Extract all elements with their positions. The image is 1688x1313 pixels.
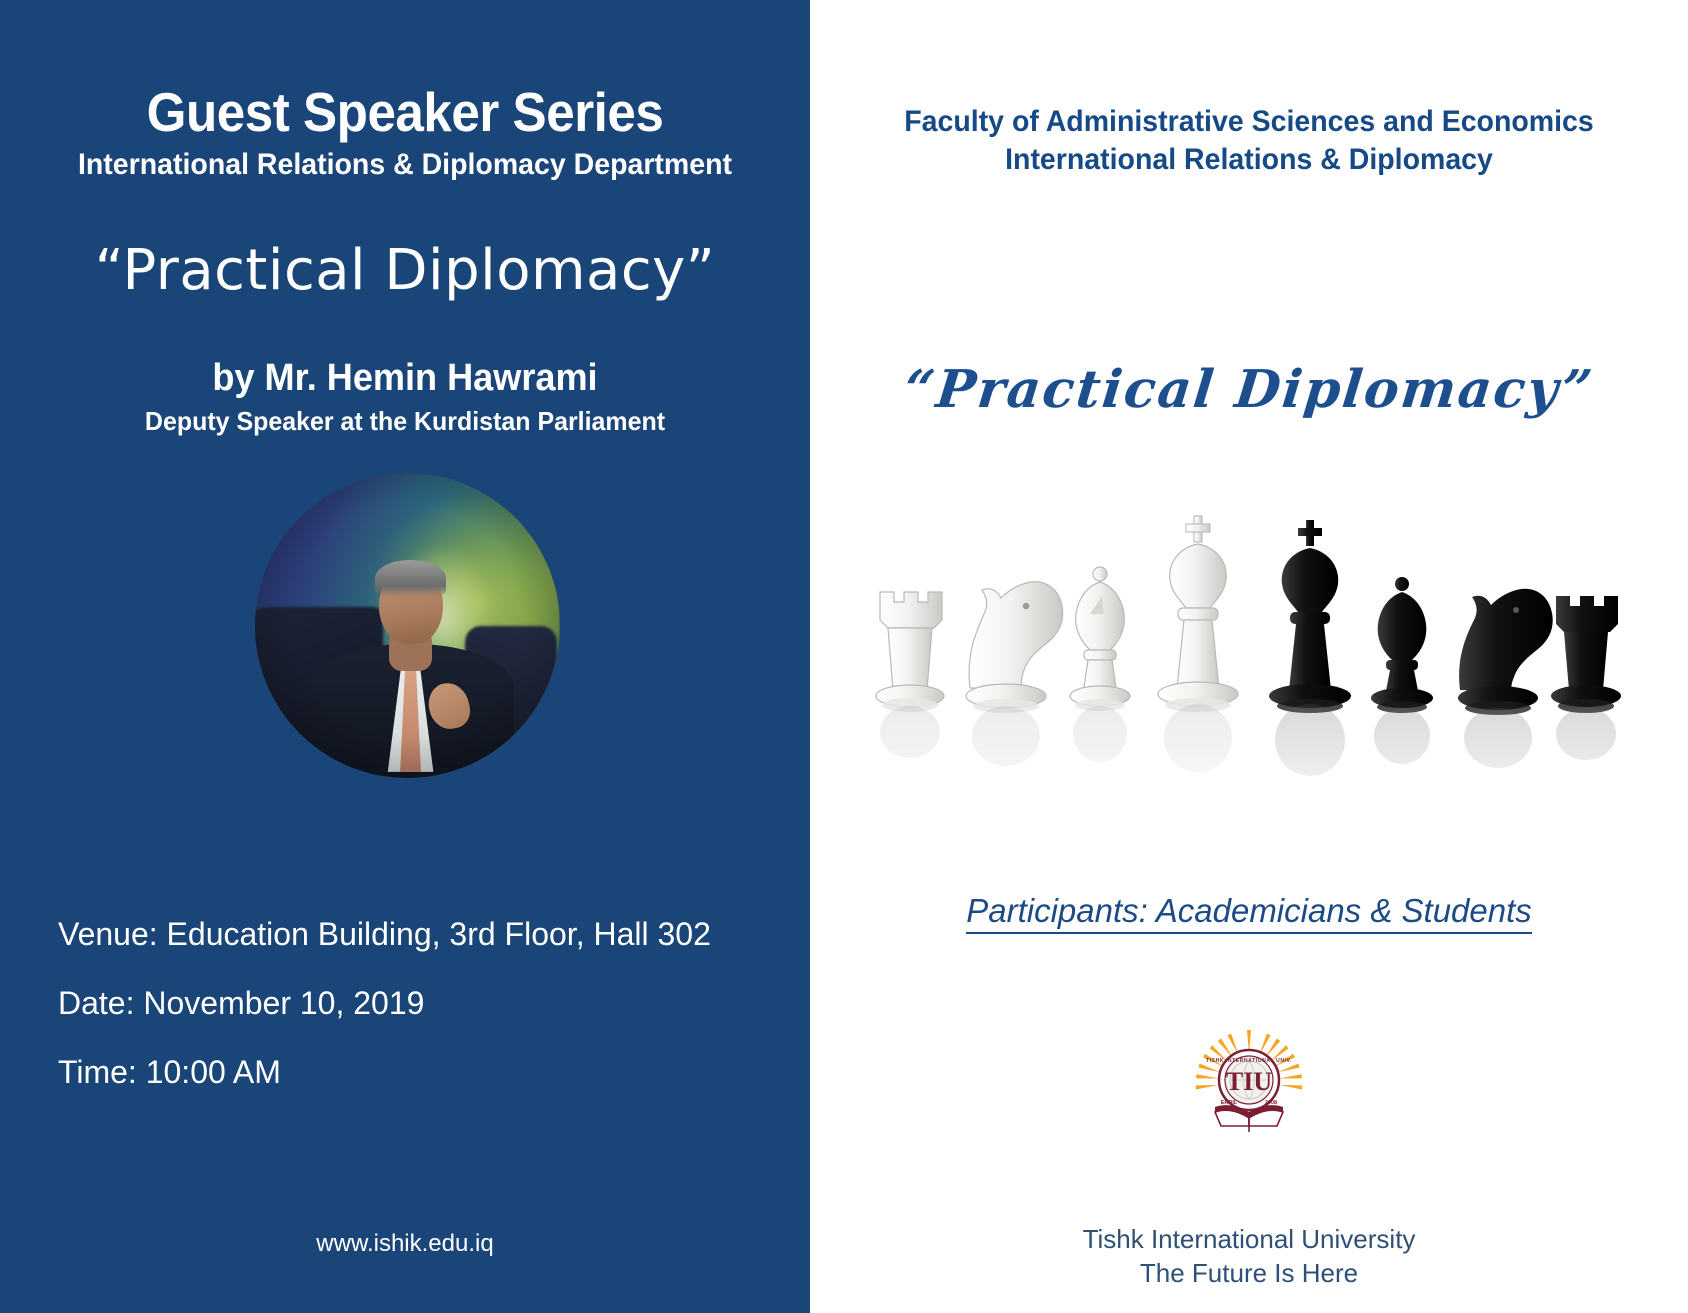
tiu-logo: TIU TISHK INTERNATIONAL UNIV. ERBIL 2008 [1179,1028,1319,1140]
speaker-portrait [255,473,560,778]
participants-text: Participants: Academicians & Students [966,892,1532,934]
portrait-vignette [255,473,560,778]
faculty-header: Faculty of Administrative Sciences and E… [810,103,1688,179]
black-rook-piece [1551,596,1621,713]
chess-pieces-illustration [850,500,1650,830]
black-bishop-piece [1371,577,1433,713]
university-name: Tishk International University [810,1222,1688,1256]
speaker-name: by Mr. Hemin Hawrami [20,355,790,401]
detail-date: Date: November 10, 2019 [58,984,758,1022]
department-name: International Relations & Diplomacy [832,141,1666,179]
speaker-block: by Mr. Hemin Hawrami Deputy Speaker at t… [0,355,810,438]
website-url[interactable]: www.ishik.edu.iq [0,1230,810,1258]
white-king-piece [1158,516,1238,712]
event-poster: Guest Speaker Series International Relat… [0,0,1688,1313]
detail-venue: Venue: Education Building, 3rd Floor, Ha… [58,915,758,953]
event-details: Venue: Education Building, 3rd Floor, Ha… [58,915,758,1122]
speaker-role: Deputy Speaker at the Kurdistan Parliame… [16,404,794,438]
left-panel: Guest Speaker Series International Relat… [0,0,810,1313]
lecture-title: “Practical Diplomacy” [0,237,810,305]
faculty-name: Faculty of Administrative Sciences and E… [832,103,1666,141]
white-knight-piece [966,582,1063,713]
white-rook-piece [876,592,944,712]
logo-city: ERBIL [1221,1100,1238,1106]
black-king-piece [1269,520,1351,713]
series-subtitle: International Relations & Diplomacy Depa… [20,146,790,184]
left-header: Guest Speaker Series International Relat… [0,82,810,184]
participants-line: Participants: Academicians & Students [810,892,1688,930]
series-title: Guest Speaker Series [28,82,781,142]
white-bishop-piece [1070,567,1130,711]
script-lecture-title: “Practical Diplomacy” [810,358,1688,422]
detail-time: Time: 10:00 AM [58,1053,758,1091]
right-panel: Faculty of Administrative Sciences and E… [810,0,1688,1313]
logo-year: 2008 [1265,1100,1277,1106]
university-slogan: The Future Is Here [810,1256,1688,1290]
university-footer: Tishk International University The Futur… [810,1222,1688,1290]
logo-monogram: TIU [1226,1067,1272,1096]
black-knight-piece [1458,589,1553,715]
logo-ring-text: TISHK INTERNATIONAL UNIV. [1206,1058,1292,1064]
